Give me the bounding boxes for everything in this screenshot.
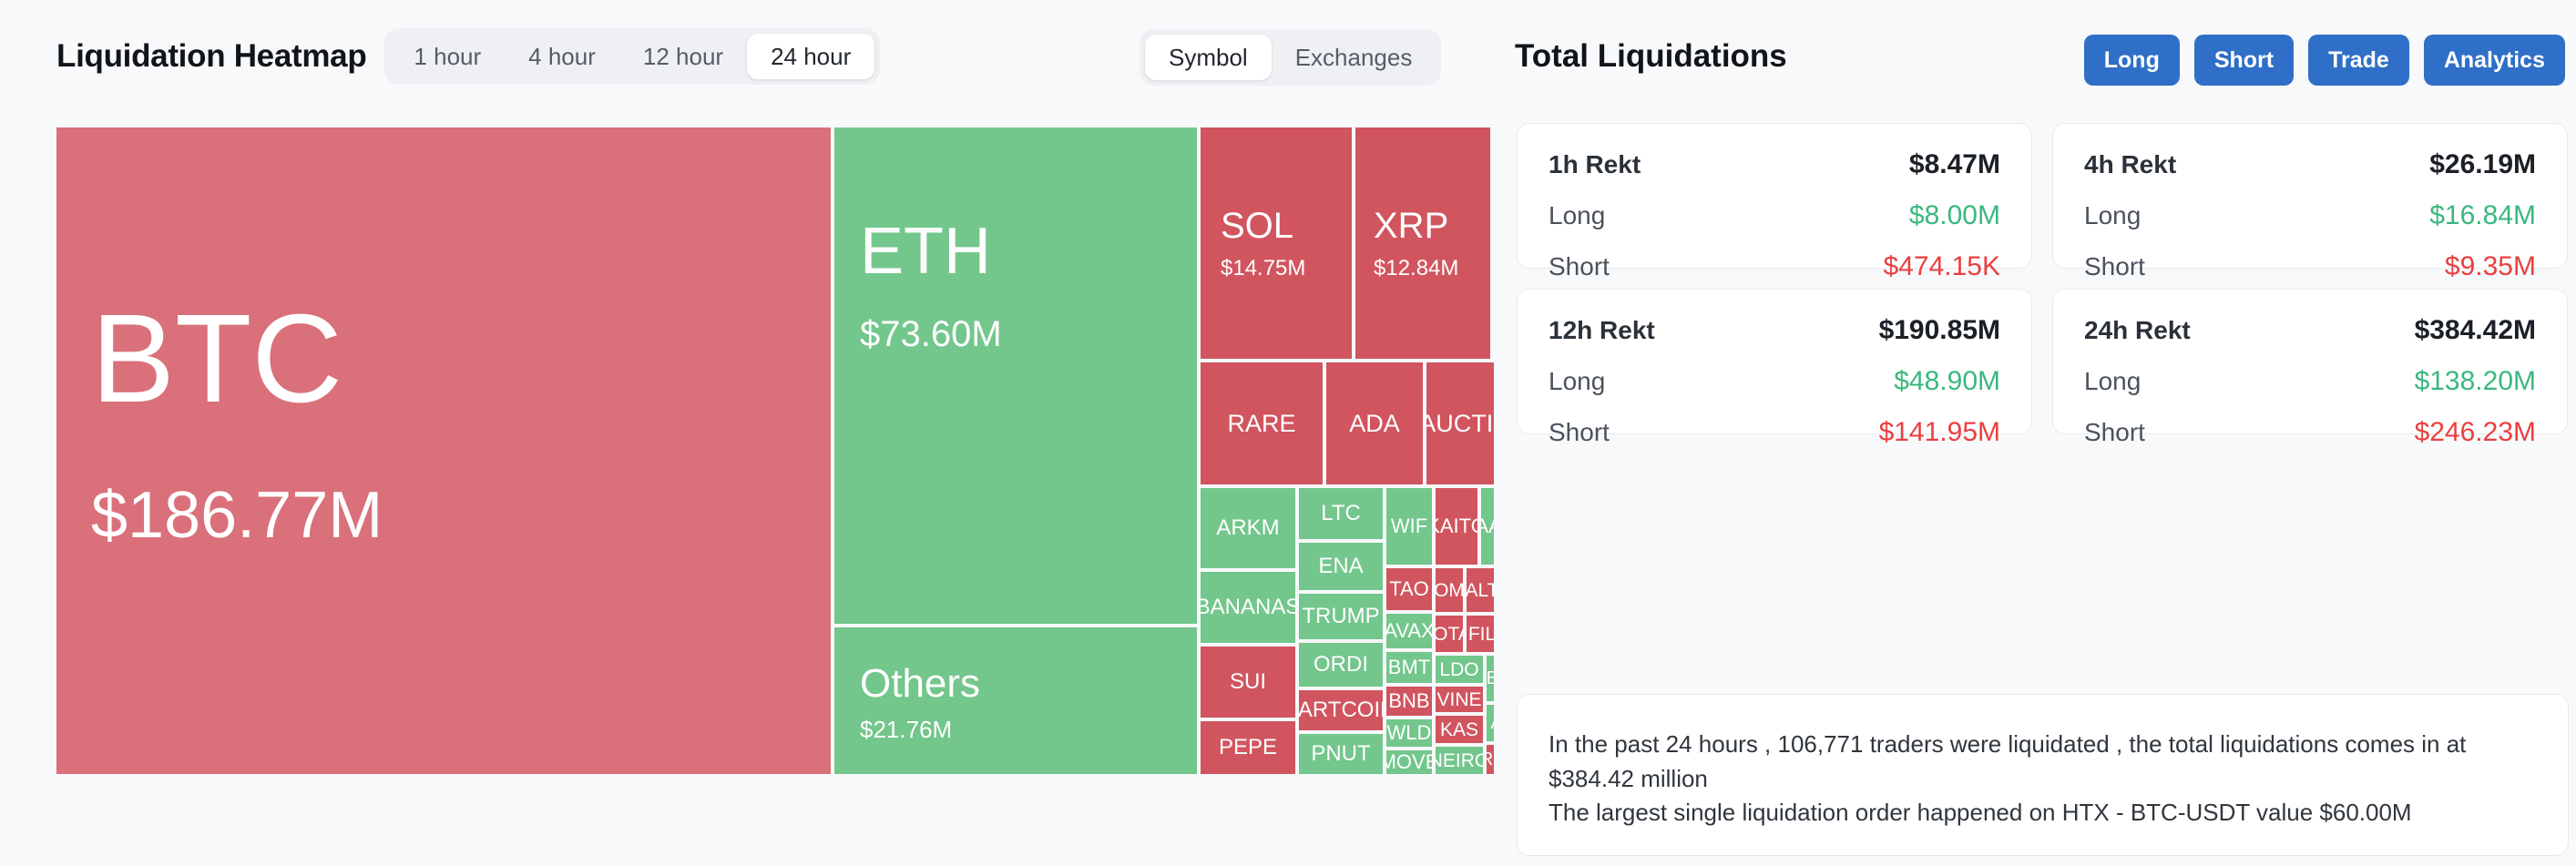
tile-symbol: ORDI <box>1314 654 1368 676</box>
tile-symbol: NEIRO <box>1436 751 1483 770</box>
short-label: Short <box>2084 418 2145 447</box>
page-title: Liquidation Heatmap <box>56 38 366 75</box>
summary-card: In the past 24 hours , 106,771 traders w… <box>1517 694 2569 856</box>
timeframe-4-hour[interactable]: 4 hour <box>505 34 619 79</box>
treemap-tile-avax[interactable]: AVAX <box>1386 614 1432 648</box>
treemap-tile-trump[interactable]: TRUMP <box>1299 594 1383 639</box>
treemap-tile-ordi[interactable]: ORDI <box>1299 643 1383 687</box>
liquidation-dashboard: Liquidation Heatmap 1 hour 4 hour 12 hou… <box>0 0 2576 866</box>
timeframe-1-hour[interactable]: 1 hour <box>390 34 505 79</box>
treemap-tile-om[interactable]: OM <box>1436 568 1463 612</box>
treemap-tile-pepe[interactable]: PEPE <box>1201 721 1295 774</box>
treemap-tile-ldo[interactable]: LDO <box>1436 656 1483 683</box>
tile-symbol: TRUMP <box>1302 606 1379 627</box>
tile-symbol: XRP <box>1374 208 1448 244</box>
treemap-tile-auction[interactable]: AUCTION <box>1426 362 1494 484</box>
tile-symbol: BANANAS <box>1201 596 1295 618</box>
long-value: $8.00M <box>1909 200 2000 231</box>
analytics-button[interactable]: Analytics <box>2424 35 2565 86</box>
short-label: Short <box>2084 252 2145 281</box>
tile-symbol: ADA <box>1349 412 1400 436</box>
long-value: $48.90M <box>1894 366 2000 397</box>
mode-selector[interactable]: Symbol Exchanges <box>1140 29 1441 86</box>
card-header-row: 1h Rekt $8.47M <box>1549 149 2000 180</box>
card-short-row: Short $246.23M <box>2084 417 2536 448</box>
tile-symbol: KAS <box>1440 720 1478 739</box>
rekt-label: 12h Rekt <box>1549 316 1655 345</box>
treemap-tile-wif[interactable]: WIF <box>1386 488 1432 565</box>
treemap-tile-pnut[interactable]: PNUT <box>1299 734 1383 774</box>
tile-symbol: OM <box>1436 581 1463 600</box>
tile-value: $21.76M <box>860 718 952 741</box>
tile-value: $12.84M <box>1374 258 1458 280</box>
card-header-row: 24h Rekt $384.42M <box>2084 315 2536 346</box>
tile-symbol: VINE <box>1436 690 1481 709</box>
card-long-row: Long $8.00M <box>1549 200 2000 231</box>
treemap-tile-kas[interactable]: KAS <box>1436 716 1483 743</box>
tile-symbol: ALT <box>1467 581 1494 600</box>
rekt-value: $190.85M <box>1879 315 2000 346</box>
long-label: Long <box>2084 367 2141 396</box>
tile-symbol: ENA <box>1318 555 1363 577</box>
tile-symbol: TAO <box>1389 579 1429 599</box>
treemap-tile-tao[interactable]: TAO <box>1386 568 1432 610</box>
tile-symbol: ETH <box>860 219 991 284</box>
tile-symbol: SOL <box>1221 208 1293 244</box>
treemap-tile-eth[interactable]: ETH $73.60M <box>834 127 1197 624</box>
treemap-tile-bmt[interactable]: BMT <box>1386 652 1432 683</box>
short-value: $141.95M <box>1879 417 2000 448</box>
short-label: Short <box>1549 252 1610 281</box>
treemap-tile-neiro[interactable]: NEIRO <box>1436 747 1483 774</box>
tile-symbol: WLD <box>1387 723 1432 743</box>
tile-symbol: SUI <box>1230 671 1266 693</box>
rekt-card-4h[interactable]: 4h Rekt $26.19M Long $16.84M Short $9.35… <box>2052 123 2568 269</box>
timeframe-24-hour[interactable]: 24 hour <box>747 34 874 79</box>
card-short-row: Short $9.35M <box>2084 251 2536 282</box>
treemap-tile-bananas[interactable]: BANANAS <box>1201 572 1295 643</box>
tile-symbol: BTC <box>91 296 342 422</box>
long-value: $16.84M <box>2429 200 2536 231</box>
treemap-tile-sol[interactable]: SOL $14.75M <box>1201 127 1352 359</box>
heatmap-header: Liquidation Heatmap 1 hour 4 hour 12 hou… <box>56 27 880 86</box>
treemap-tile-sui[interactable]: SUI <box>1201 647 1295 718</box>
short-value: $474.15K <box>1884 251 2000 282</box>
long-label: Long <box>1549 367 1605 396</box>
rekt-label: 4h Rekt <box>2084 150 2176 179</box>
treemap-tile-kaito[interactable]: KAITO <box>1436 488 1477 565</box>
card-long-row: Long $138.20M <box>2084 366 2536 397</box>
long-button[interactable]: Long <box>2084 35 2180 86</box>
timeframe-12-hour[interactable]: 12 hour <box>619 34 747 79</box>
short-label: Short <box>1549 418 1610 447</box>
card-short-row: Short $474.15K <box>1549 251 2000 282</box>
rekt-card-24h[interactable]: 24h Rekt $384.42M Long $138.20M Short $2… <box>2052 289 2568 434</box>
tile-symbol: BNB <box>1388 691 1429 711</box>
summary-line-1: In the past 24 hours , 106,771 traders w… <box>1549 728 2537 796</box>
treemap-tile-arkm[interactable]: ARKM <box>1201 488 1295 568</box>
tile-symbol: PNUT <box>1311 743 1370 765</box>
tile-value: $14.75M <box>1221 258 1305 280</box>
long-label: Long <box>1549 201 1605 230</box>
tile-symbol: FIL <box>1468 625 1494 644</box>
card-short-row: Short $141.95M <box>1549 417 2000 448</box>
treemap-tile-ltc[interactable]: LTC <box>1299 488 1383 539</box>
treemap-tile-btc[interactable]: BTC $186.77M <box>56 127 831 774</box>
rekt-card-12h[interactable]: 12h Rekt $190.85M Long $48.90M Short $14… <box>1517 289 2032 434</box>
tile-symbol: PEPE <box>1219 737 1277 759</box>
tile-symbol: AUCTION <box>1426 412 1494 436</box>
tile-symbol: RARE <box>1227 412 1295 436</box>
treemap-tile-rare[interactable]: RARE <box>1201 362 1323 484</box>
tile-symbol: AAVE <box>1481 516 1494 536</box>
rekt-card-1h[interactable]: 1h Rekt $8.47M Long $8.00M Short $474.15… <box>1517 123 2032 269</box>
tile-value: $186.77M <box>91 483 383 548</box>
treemap-tile-xrp[interactable]: XRP $12.84M <box>1355 127 1490 359</box>
treemap-tile-fil[interactable]: FIL <box>1467 616 1494 652</box>
liquidation-treemap: BTC $186.77M ETH $73.60M Others $21.76M … <box>56 127 1494 774</box>
rekt-label: 1h Rekt <box>1549 150 1641 179</box>
tile-symbol: AVAX <box>1386 621 1432 641</box>
tile-symbol: AI <box>1491 714 1494 732</box>
tile-symbol: MOVE <box>1386 752 1432 772</box>
rekt-label: 24h Rekt <box>2084 316 2191 345</box>
rekt-value: $26.19M <box>2429 149 2536 180</box>
long-value: $138.20M <box>2415 366 2536 397</box>
tile-symbol: KAITO <box>1436 516 1477 536</box>
treemap-tile-ai[interactable]: AI <box>1487 705 1494 741</box>
tile-symbol: ARKM <box>1216 517 1279 539</box>
tile-symbol: FARTCOIN <box>1299 699 1383 721</box>
rekt-cards: 1h Rekt $8.47M Long $8.00M Short $474.15… <box>1517 123 2569 434</box>
mode-symbol[interactable]: Symbol <box>1145 35 1272 80</box>
treemap-tile-vine[interactable]: VINE <box>1436 687 1483 712</box>
summary-line-2: The largest single liquidation order hap… <box>1549 796 2537 830</box>
treemap-tile-aave[interactable]: AAVE <box>1481 488 1494 565</box>
treemap-tile-others[interactable]: Others $21.76M <box>834 627 1197 774</box>
card-long-row: Long $16.84M <box>2084 200 2536 231</box>
tile-symbol: BMT <box>1388 657 1430 678</box>
treemap-tile-alt[interactable]: ALT <box>1467 568 1494 612</box>
tile-symbol: WIF <box>1391 516 1427 536</box>
timeframe-selector[interactable]: 1 hour 4 hour 12 hour 24 hour <box>384 28 880 85</box>
long-label: Long <box>2084 201 2141 230</box>
trade-button[interactable]: Trade <box>2308 35 2409 86</box>
total-liquidations-panel: Total Liquidations Long Short Trade Anal… <box>1508 0 2576 866</box>
treemap-tile-iota[interactable]: IOTA <box>1436 616 1463 652</box>
tile-symbol: IOTA <box>1436 625 1463 644</box>
total-liquidations-title: Total Liquidations <box>1515 38 1787 75</box>
rekt-value: $8.47M <box>1909 149 2000 180</box>
short-value: $9.35M <box>2445 251 2536 282</box>
treemap-tile-red[interactable]: RED <box>1487 745 1494 774</box>
treemap-tile-ena[interactable]: ENA <box>1299 543 1383 590</box>
tile-symbol: RED <box>1487 750 1494 769</box>
tile-symbol: LTC <box>1321 503 1361 525</box>
tile-symbol: Others <box>860 664 980 704</box>
card-long-row: Long $48.90M <box>1549 366 2000 397</box>
treemap-tile-hbar[interactable]: HBAR <box>1487 656 1494 701</box>
treemap-tile-ada[interactable]: ADA <box>1326 362 1423 484</box>
treemap-tile-wld[interactable]: WLD <box>1386 719 1432 747</box>
tile-symbol: LDO <box>1439 660 1478 679</box>
action-buttons: Long Short Trade Analytics <box>2084 35 2565 86</box>
tile-value: $73.60M <box>860 316 1002 352</box>
card-header-row: 4h Rekt $26.19M <box>2084 149 2536 180</box>
card-header-row: 12h Rekt $190.85M <box>1549 315 2000 346</box>
tile-symbol: HBAR <box>1487 669 1494 688</box>
rekt-value: $384.42M <box>2415 315 2536 346</box>
short-value: $246.23M <box>2415 417 2536 448</box>
heatmap-panel: Liquidation Heatmap 1 hour 4 hour 12 hou… <box>0 0 1508 866</box>
treemap-tile-bnb[interactable]: BNB <box>1386 687 1432 716</box>
treemap-tile-fartcoin[interactable]: FARTCOIN <box>1299 690 1383 730</box>
short-button[interactable]: Short <box>2194 35 2294 86</box>
treemap-tile-move[interactable]: MOVE <box>1386 750 1432 774</box>
mode-exchanges[interactable]: Exchanges <box>1272 35 1436 80</box>
